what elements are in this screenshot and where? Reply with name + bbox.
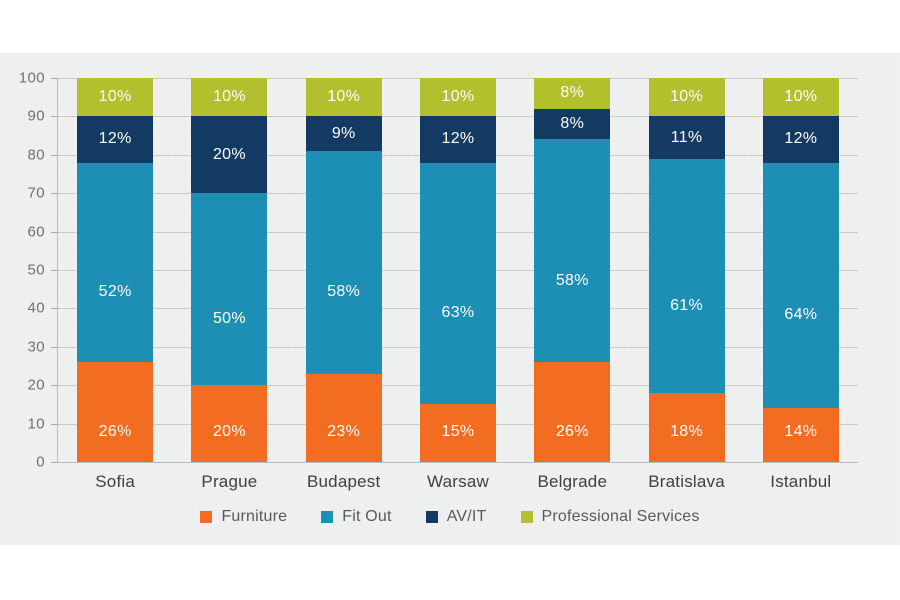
- y-axis-tick: [51, 308, 58, 309]
- bar-segment-value-label: 12%: [99, 131, 132, 147]
- y-axis-tick-label: 60: [28, 223, 46, 240]
- bar-segment[interactable]: 9%: [306, 116, 382, 151]
- legend-item[interactable]: Fit Out: [321, 508, 391, 526]
- legend-item[interactable]: Professional Services: [521, 508, 700, 526]
- bar-segment[interactable]: 26%: [534, 362, 610, 462]
- bar-segment-value-label: 10%: [213, 89, 246, 105]
- bar-segment[interactable]: 10%: [306, 78, 382, 116]
- legend-item[interactable]: Furniture: [200, 508, 287, 526]
- y-axis-tick-label: 40: [28, 300, 46, 317]
- y-axis-tick: [51, 116, 58, 117]
- bar-segment-value-label: 18%: [670, 424, 703, 440]
- bar-segment-value-label: 50%: [213, 311, 246, 327]
- bar-segment[interactable]: 8%: [534, 78, 610, 109]
- bar-segment-value-label: 26%: [99, 424, 132, 440]
- bar-segment-value-label: 20%: [213, 147, 246, 163]
- bar-segment-value-label: 10%: [442, 89, 475, 105]
- bar-segment-value-label: 10%: [670, 89, 703, 105]
- legend-item[interactable]: AV/IT: [426, 508, 487, 526]
- chart-legend: FurnitureFit OutAV/ITProfessional Servic…: [0, 508, 900, 526]
- legend-swatch-icon: [521, 511, 533, 523]
- bar-segment[interactable]: 8%: [534, 109, 610, 140]
- stacked-bar[interactable]: 8%8%58%26%: [534, 78, 610, 462]
- legend-item-label: Professional Services: [542, 508, 700, 526]
- bar-segment-value-label: 64%: [784, 307, 817, 323]
- bar-segment[interactable]: 52%: [77, 163, 153, 363]
- x-axis-category-label: Belgrade: [512, 472, 632, 492]
- y-axis-tick-label: 80: [28, 146, 46, 163]
- bar-segment-value-label: 52%: [99, 284, 132, 300]
- bar-segment-value-label: 15%: [442, 424, 475, 440]
- bar-segment[interactable]: 10%: [420, 78, 496, 116]
- bar-segment[interactable]: 23%: [306, 374, 382, 462]
- bar-segment-value-label: 10%: [327, 89, 360, 105]
- y-axis-tick-label: 90: [28, 108, 46, 125]
- bar-segment[interactable]: 14%: [763, 408, 839, 462]
- stacked-bar[interactable]: 10%12%63%15%: [420, 78, 496, 462]
- bar-segment[interactable]: 58%: [306, 151, 382, 374]
- stacked-bar[interactable]: 10%20%50%20%: [191, 78, 267, 462]
- y-axis-tick-label: 30: [28, 338, 46, 355]
- bar-segment[interactable]: 12%: [420, 116, 496, 162]
- bar-segment-value-label: 12%: [784, 131, 817, 147]
- bar-segment[interactable]: 26%: [77, 362, 153, 462]
- bar-segment-value-label: 12%: [442, 131, 475, 147]
- bar-segment-value-label: 14%: [784, 424, 817, 440]
- y-axis-tick-label: 50: [28, 262, 46, 279]
- x-axis-category-label: Budapest: [284, 472, 404, 492]
- bar-segment[interactable]: 12%: [77, 116, 153, 162]
- bar-segment[interactable]: 12%: [763, 116, 839, 162]
- bar-segment-value-label: 63%: [442, 305, 475, 321]
- bar-segment[interactable]: 20%: [191, 385, 267, 462]
- y-axis-tick: [51, 155, 58, 156]
- x-axis-category-label: Warsaw: [398, 472, 518, 492]
- bar-segment[interactable]: 15%: [420, 404, 496, 462]
- y-axis-tick: [51, 462, 58, 463]
- bar-segment[interactable]: 50%: [191, 193, 267, 385]
- bar-segment[interactable]: 18%: [649, 393, 725, 462]
- y-axis-tick-label: 70: [28, 185, 46, 202]
- bar-segment[interactable]: 10%: [763, 78, 839, 116]
- y-axis-tick-label: 20: [28, 377, 46, 394]
- x-axis-category-label: Prague: [169, 472, 289, 492]
- stacked-bar[interactable]: 10%12%52%26%: [77, 78, 153, 462]
- chart-screenshot: 0102030405060708090100 10%12%52%26%10%20…: [0, 0, 900, 600]
- y-axis-tick: [51, 232, 58, 233]
- legend-swatch-icon: [321, 511, 333, 523]
- y-axis-tick: [51, 347, 58, 348]
- bar-segment-value-label: 9%: [332, 126, 356, 142]
- legend-item-label: AV/IT: [447, 508, 487, 526]
- y-axis-tick: [51, 193, 58, 194]
- bar-segment-value-label: 58%: [556, 273, 589, 289]
- bar-segment-value-label: 61%: [670, 298, 703, 314]
- y-axis-tick-label: 10: [28, 415, 46, 432]
- bar-segment[interactable]: 20%: [191, 116, 267, 193]
- bar-segment[interactable]: 10%: [649, 78, 725, 116]
- x-axis-category-label: Istanbul: [741, 472, 861, 492]
- bar-segment[interactable]: 61%: [649, 159, 725, 393]
- bar-segment-value-label: 8%: [560, 116, 584, 132]
- bar-segment[interactable]: 11%: [649, 116, 725, 158]
- bar-segment-value-label: 8%: [560, 85, 584, 101]
- bar-segment[interactable]: 63%: [420, 163, 496, 405]
- legend-item-label: Furniture: [221, 508, 287, 526]
- legend-swatch-icon: [200, 511, 212, 523]
- x-axis-category-label: Sofia: [55, 472, 175, 492]
- stacked-bar[interactable]: 10%9%58%23%: [306, 78, 382, 462]
- bar-segment-value-label: 10%: [99, 89, 132, 105]
- bar-segment[interactable]: 64%: [763, 163, 839, 409]
- plot-area: 0102030405060708090100 10%12%52%26%10%20…: [58, 78, 858, 462]
- y-axis-tick-label: 100: [19, 70, 45, 87]
- y-axis-tick: [51, 385, 58, 386]
- stacked-bar[interactable]: 10%11%61%18%: [649, 78, 725, 462]
- stacked-bar[interactable]: 10%12%64%14%: [763, 78, 839, 462]
- y-axis-tick: [51, 424, 58, 425]
- x-axis-category-label: Bratislava: [627, 472, 747, 492]
- gridline: [58, 462, 858, 463]
- bar-segment[interactable]: 58%: [534, 139, 610, 362]
- bar-segment-value-label: 10%: [784, 89, 817, 105]
- y-axis-tick: [51, 270, 58, 271]
- bar-segment[interactable]: 10%: [77, 78, 153, 116]
- legend-swatch-icon: [426, 511, 438, 523]
- y-axis-tick: [51, 78, 58, 79]
- bar-segment-value-label: 11%: [671, 130, 703, 146]
- bar-segment-value-label: 26%: [556, 424, 589, 440]
- bar-segment-value-label: 58%: [327, 284, 360, 300]
- legend-item-label: Fit Out: [342, 508, 391, 526]
- bar-segment-value-label: 20%: [213, 424, 246, 440]
- bar-segment[interactable]: 10%: [191, 78, 267, 116]
- bar-segment-value-label: 23%: [327, 424, 360, 440]
- y-axis-tick-label: 0: [36, 454, 45, 471]
